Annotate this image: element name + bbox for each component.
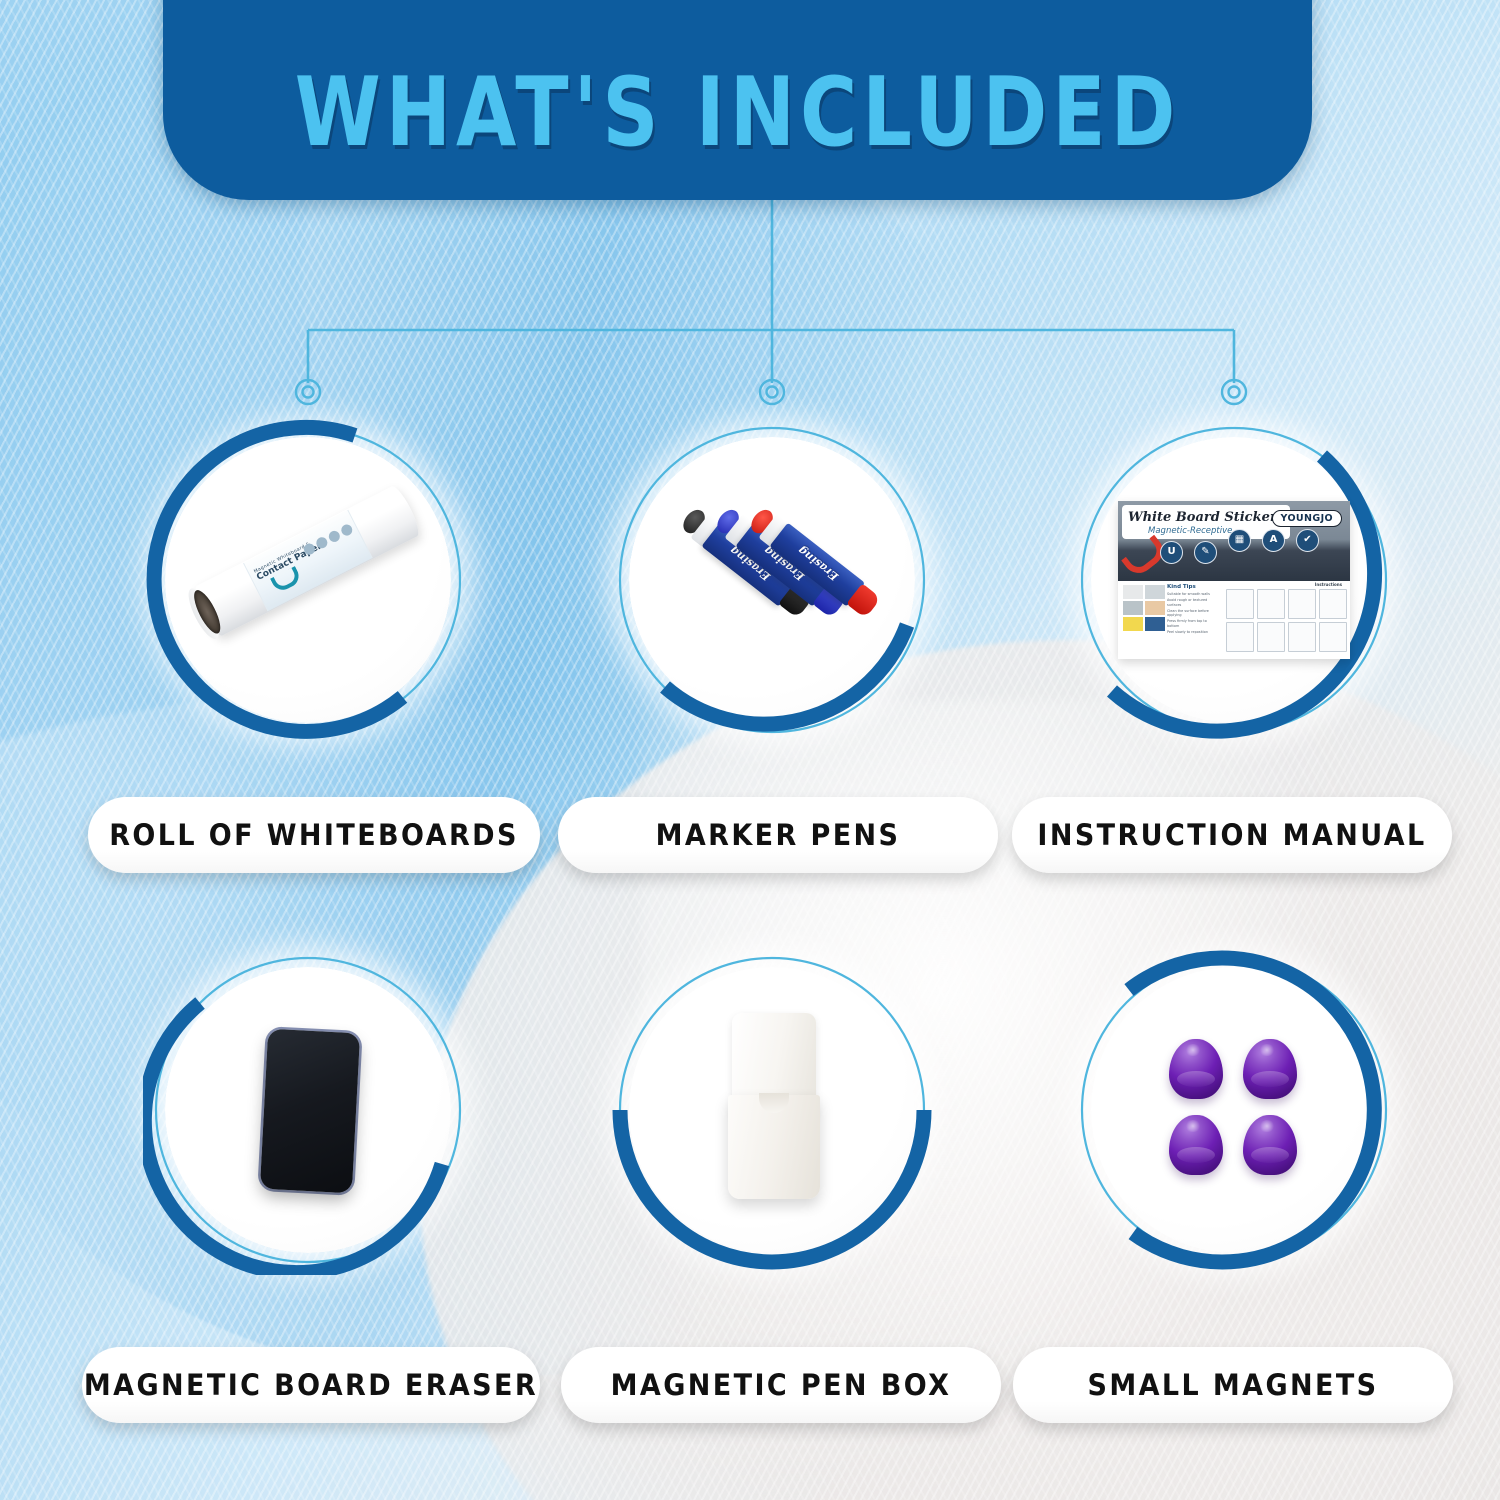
product-art-instruction-manual: White Board Sticker Magnetic-Receptive Y…	[1091, 437, 1377, 723]
instruction-manual-icon: White Board Sticker Magnetic-Receptive Y…	[1118, 501, 1350, 659]
label-pill-marker-pens[interactable]: MARKER PENS	[558, 797, 998, 873]
magnet-item	[1243, 1115, 1297, 1175]
manual-step-grid	[1226, 589, 1347, 652]
header-banner: WHAT'S INCLUDED	[163, 0, 1312, 200]
tip-line: Peel slowly to reposition	[1167, 630, 1219, 635]
manual-subtitle: Magnetic-Receptive	[1148, 526, 1232, 536]
whiteboard-roll-icon: Magnetic Whiteboard & Contact Paper	[191, 483, 423, 638]
pen-box-icon	[728, 1013, 820, 1199]
infographic-canvas: WHAT'S INCLUDED	[0, 0, 1500, 1500]
product-circle-magnetic-pen-box[interactable]	[607, 945, 937, 1275]
label-text: MARKER PENS	[656, 818, 901, 852]
magnet-badge-icon: U	[1160, 541, 1183, 564]
label-text: ROLL OF WHITEBOARDS	[109, 818, 519, 852]
product-circle-roll-of-whiteboards[interactable]: Magnetic Whiteboard & Contact Paper	[143, 415, 473, 745]
page-title: WHAT'S INCLUDED	[295, 58, 1181, 200]
product-art-small-magnets	[1091, 967, 1377, 1253]
check-badge-icon: ✔	[1296, 529, 1319, 552]
product-circle-marker-pens[interactable]: Erasing Erasing Erasing	[607, 415, 937, 745]
product-art-pen-box	[629, 967, 915, 1253]
small-magnets-icon	[1165, 1039, 1307, 1185]
product-art-whiteboard-roll: Magnetic Whiteboard & Contact Paper	[165, 437, 451, 723]
tip-line: Clean the surface before applying	[1167, 609, 1219, 618]
manual-title: White Board Sticker	[1128, 510, 1277, 525]
label-text: INSTRUCTION MANUAL	[1037, 818, 1426, 852]
product-art-marker-pens: Erasing Erasing Erasing	[629, 437, 915, 723]
label-text: SMALL MAGNETS	[1087, 1368, 1378, 1402]
manual-feature-badges: U ✎ ▦ A ✔	[1160, 541, 1319, 564]
label-text: MAGNETIC PEN BOX	[611, 1368, 952, 1402]
tip-line: Avoid rough or textured surfaces	[1167, 598, 1219, 607]
product-circle-small-magnets[interactable]	[1069, 945, 1399, 1275]
connector-node-left	[296, 380, 320, 404]
manual-color-swatches	[1123, 585, 1165, 631]
board-eraser-icon	[260, 1029, 360, 1194]
label-pill-roll-of-whiteboards[interactable]: ROLL OF WHITEBOARDS	[88, 797, 540, 873]
connector-node-center	[760, 380, 784, 404]
magnet-item	[1169, 1039, 1223, 1099]
manual-tips: Kind Tips Suitable for smooth walls Avoi…	[1167, 584, 1219, 636]
size-badge-icon: A	[1262, 529, 1285, 552]
write-badge-icon: ✎	[1194, 541, 1217, 564]
product-circle-instruction-manual[interactable]: White Board Sticker Magnetic-Receptive Y…	[1069, 415, 1399, 745]
product-circle-magnetic-board-eraser[interactable]	[143, 945, 473, 1275]
tip-line: Press firmly from top to bottom	[1167, 619, 1219, 628]
tips-heading: Kind Tips	[1167, 584, 1219, 590]
grid-badge-icon: ▦	[1228, 529, 1251, 552]
label-pill-magnetic-pen-box[interactable]: MAGNETIC PEN BOX	[561, 1347, 1001, 1423]
product-art-board-eraser	[165, 967, 451, 1253]
connector-node-right	[1222, 380, 1246, 404]
magnet-item	[1169, 1115, 1223, 1175]
marker-pens-icon: Erasing Erasing Erasing	[681, 499, 863, 669]
manual-brand-logo: YOUNGJO	[1272, 510, 1343, 527]
steps-heading: Instructions	[1315, 582, 1342, 587]
label-pill-small-magnets[interactable]: SMALL MAGNETS	[1013, 1347, 1453, 1423]
label-text: MAGNETIC BOARD ERASER	[84, 1368, 538, 1402]
magnet-item	[1243, 1039, 1297, 1099]
label-pill-magnetic-board-eraser[interactable]: MAGNETIC BOARD ERASER	[82, 1347, 540, 1423]
tip-line: Suitable for smooth walls	[1167, 592, 1219, 597]
label-pill-instruction-manual[interactable]: INSTRUCTION MANUAL	[1012, 797, 1452, 873]
